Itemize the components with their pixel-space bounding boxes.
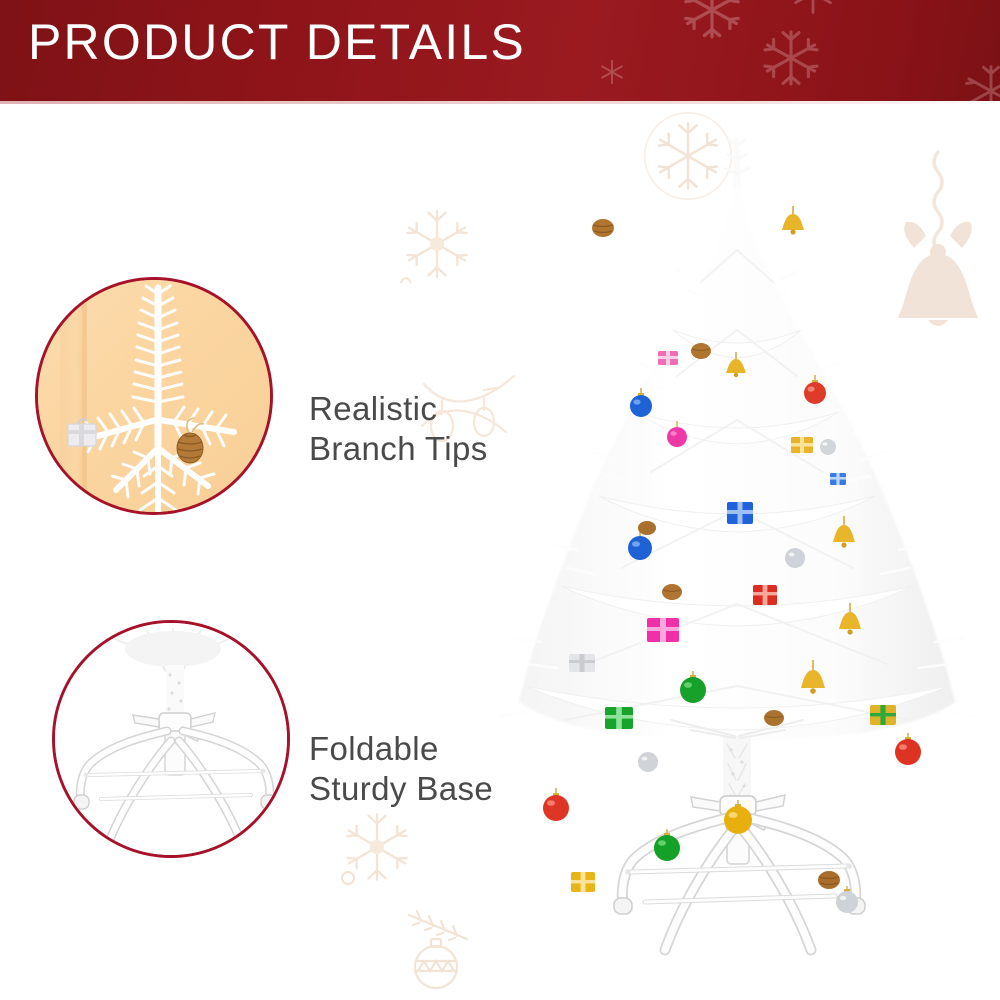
snowflake-icon [598,58,626,86]
snowflake-icon [962,62,1000,101]
snowflake-icon [790,0,836,16]
page-title: PRODUCT DETAILS [28,17,526,67]
circle-dot-icon [340,870,356,886]
snowflake-icon [398,205,476,283]
feature-image-branch-tips [35,277,273,515]
header-banner: PRODUCT DETAILS [0,0,1000,101]
bauble-branch-icon [405,905,505,1000]
snowflake-icon [760,27,822,89]
feature-image-foldable-base [52,620,290,858]
product-details-page: PRODUCT DETAILS [0,0,1000,1000]
product-image-christmas-tree [495,130,1000,1000]
banner-underline [0,101,1000,104]
tree-illustration [495,130,1000,1000]
snowflake-icon [680,0,744,42]
